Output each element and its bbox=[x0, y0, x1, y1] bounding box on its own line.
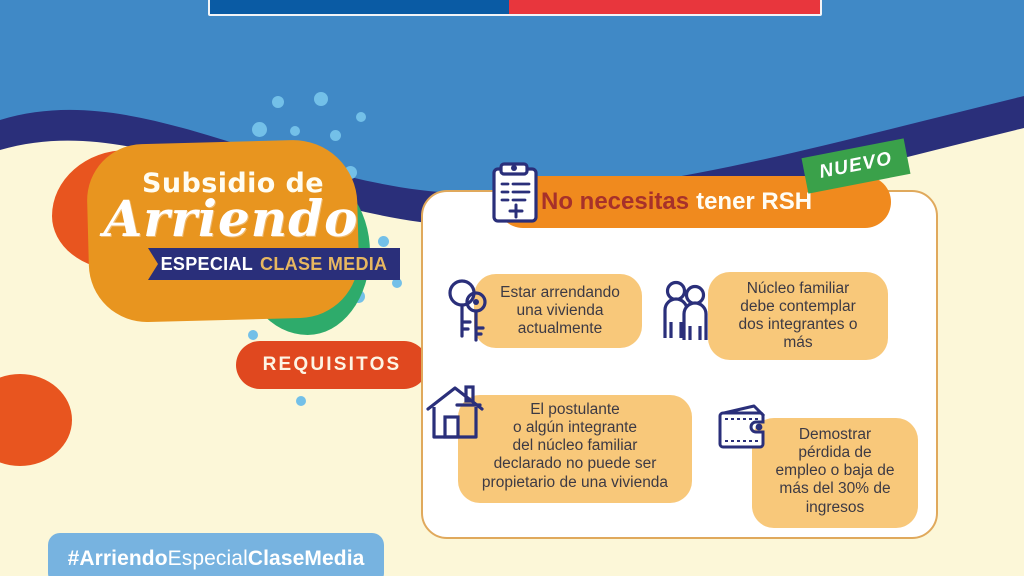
gobierno-flag-bar bbox=[208, 0, 822, 16]
clipboard-icon bbox=[489, 162, 543, 224]
requirement-item: Núcleo familiar debe contemplar dos inte… bbox=[660, 272, 888, 364]
hashtag-bold-1: Arriendo bbox=[79, 547, 167, 570]
ribbon-especial: ESPECIAL bbox=[161, 254, 253, 275]
title-ribbon: ESPECIAL CLASE MEDIA bbox=[148, 248, 400, 280]
requirement-item: Estar arrendando una vivienda actualment… bbox=[444, 272, 644, 350]
infographic-canvas: Subsidio de Arriendo ESPECIAL CLASE MEDI… bbox=[0, 0, 1024, 576]
requirement-item: El postulante o algún integrante del núc… bbox=[424, 383, 692, 507]
hashtag-regular: Especial bbox=[168, 547, 248, 570]
nuevo-label: NUEVO bbox=[818, 148, 895, 184]
hashtag-symbol: # bbox=[68, 547, 80, 570]
requirement-text: Núcleo familiar debe contemplar dos inte… bbox=[712, 280, 884, 353]
requisitos-label: REQUISITOS bbox=[263, 354, 402, 376]
ribbon-clase-media: CLASE MEDIA bbox=[260, 254, 387, 275]
flag-blue-segment bbox=[210, 0, 509, 14]
hashtag-pill: #ArriendoEspecialClaseMedia bbox=[48, 533, 384, 576]
hashtag-bold-2: ClaseMedia bbox=[248, 547, 365, 570]
requisitos-badge: REQUISITOS bbox=[236, 341, 428, 389]
requirement-text: Demostrar pérdida de empleo o baja de má… bbox=[754, 426, 916, 517]
requirement-text: El postulante o algún integrante del núc… bbox=[458, 401, 692, 492]
requirement-item: Demostrar pérdida de empleo o baja de má… bbox=[714, 404, 918, 528]
rsh-header-red-text: No necesitas bbox=[541, 188, 689, 216]
rsh-header-white-text: tener RSH bbox=[696, 188, 812, 216]
flag-red-segment bbox=[509, 0, 820, 14]
title-block: Subsidio de Arriendo bbox=[60, 120, 420, 320]
title-line-2: Arriendo bbox=[96, 194, 366, 244]
people-icon bbox=[660, 280, 716, 342]
requirement-text: Estar arrendando una vivienda actualment… bbox=[480, 284, 640, 338]
